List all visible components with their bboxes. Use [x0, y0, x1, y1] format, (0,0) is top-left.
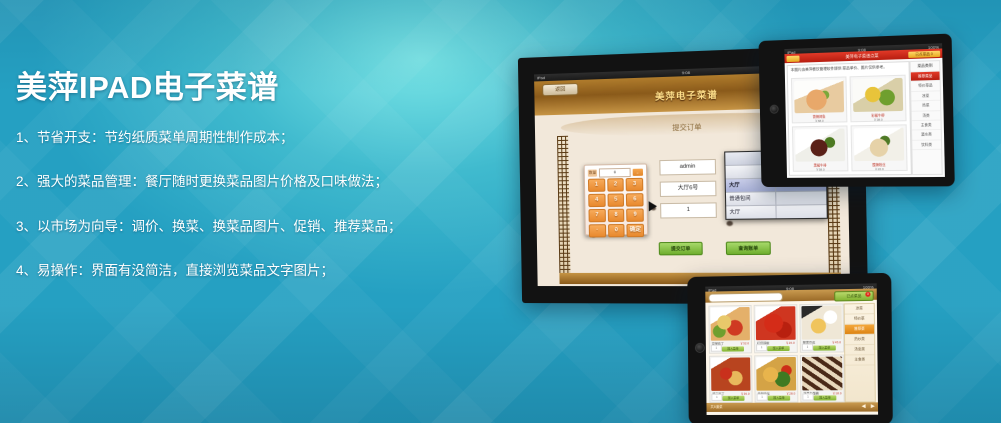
dish-photo — [794, 80, 844, 114]
numeric-keypad[interactable]: 数量 6 ← 1 2 3 4 5 6 7 8 9 · — [584, 163, 649, 235]
dish-qty[interactable]: 1 — [756, 344, 767, 351]
dish-qty[interactable]: 1 — [711, 344, 722, 351]
cart-button[interactable]: 已点菜品3 — [834, 290, 874, 301]
next-page-icon[interactable]: ▶ — [871, 403, 875, 410]
dish-card[interactable]: 宫保鸡丁 ￥32.0 1 加入菜单 — [708, 305, 752, 353]
dish-card[interactable]: 香辣烤鱼 ￥68.0 — [791, 76, 847, 123]
br-footer-bar: 共6道菜 ◀ ▶ — [706, 402, 878, 412]
dish-price: ￥45.0 — [832, 340, 841, 344]
dish-photo — [852, 78, 903, 112]
dish-price: ￥38.0 — [851, 117, 906, 122]
br-sidebar-item-cold[interactable]: 凉菜 — [845, 304, 874, 315]
backspace-icon[interactable]: ← — [633, 168, 643, 175]
add-to-order-button[interactable]: 加入菜单 — [722, 396, 744, 401]
keypad-display-value[interactable]: 6 — [599, 167, 631, 177]
add-to-order-button[interactable]: 加入菜单 — [768, 396, 790, 401]
tr-sidebar-item-soup[interactable]: 汤类 — [912, 111, 941, 121]
keypad-display-label: 数量 — [588, 169, 597, 176]
keypad-key-enter[interactable]: 确定 — [627, 224, 644, 237]
feature-item-1: 1、节省开支：节约纸质菜单周期性制作成本； — [16, 131, 486, 145]
dish-price: ￥18.0 — [832, 391, 841, 395]
br-category-sidebar: 凉菜 特价菜 推荐菜 热炒类 汤羹类 主食类 — [844, 303, 876, 403]
dish-card[interactable]: 红烧辣椒 ￥26.0 1 加入菜单 — [754, 304, 798, 353]
dish-qty[interactable]: 1 — [802, 393, 813, 400]
keypad-key-8[interactable]: 8 — [607, 209, 624, 222]
br-sidebar-item-special[interactable]: 特价菜 — [845, 314, 874, 325]
feature-item-2: 2、强大的菜品管理：餐厅随时更换菜品图片价格及口味做法； — [16, 175, 486, 189]
dish-photo — [853, 127, 904, 161]
add-to-order-button[interactable]: 加入菜单 — [722, 346, 744, 351]
add-to-order-button[interactable]: 加入菜单 — [814, 395, 837, 400]
table-row[interactable]: 大厅 — [726, 205, 827, 219]
dish-photo — [801, 305, 841, 339]
br-sidebar-item-stirfry[interactable]: 热炒类 — [845, 335, 874, 346]
tr-content-panel: 本图片由美萍餐饮管理软件提供 菜品单价、图片仅供参考。 香辣烤鱼 ￥68.0 彩… — [787, 61, 912, 176]
count-field[interactable]: 1 — [660, 202, 717, 218]
br-pager: ◀ ▶ — [862, 403, 875, 410]
keypad-grid: 1 2 3 4 5 6 7 8 9 · 0 确定 — [588, 178, 644, 238]
dish-card[interactable]: 酸辣粉丝 ￥22.0 — [850, 124, 908, 171]
br-sidebar-item-soup[interactable]: 汤羹类 — [845, 345, 874, 356]
promo-banner: 美萍IPAD电子菜谱 1、节省开支：节约纸质菜单周期性制作成本； 2、强大的菜品… — [0, 0, 1001, 423]
tr-category-sidebar: 菜品类别 推荐菜品 特价菜品 凉菜 热菜 汤类 主食类 酒水类 饮料类 — [910, 60, 943, 175]
dish-price: ￥36.0 — [741, 391, 750, 395]
dish-card[interactable]: 蟹黄豆腐 ￥45.0 1 加入菜单 — [799, 303, 844, 352]
dish-photo — [802, 356, 842, 390]
dish-photo — [756, 356, 796, 390]
home-button[interactable] — [695, 343, 705, 353]
table-cell-area: 大厅 — [726, 206, 776, 219]
dish-price: ￥22.0 — [852, 167, 907, 172]
tr-sidebar-item-alcohol[interactable]: 酒水类 — [912, 130, 941, 140]
keypad-key-dot[interactable]: · — [589, 224, 606, 237]
dish-qty[interactable]: 1 — [711, 394, 722, 401]
tr-dish-grid: 香辣烤鱼 ￥68.0 彩椒牛柳 ￥38.0 黑椒牛排 ￥58.0 — [791, 75, 908, 172]
keypad-display-row: 数量 6 ← — [588, 168, 643, 177]
br-sidebar-item-recommended[interactable]: 推荐菜 — [845, 324, 874, 335]
dish-price: ￥32.0 — [740, 341, 749, 345]
home-button[interactable] — [770, 105, 779, 114]
main-action-buttons: 提交订单 查询账单 — [659, 241, 771, 255]
tr-disclaimer-note: 本图片由美萍餐饮管理软件提供 菜品单价、图片仅供参考。 — [791, 64, 906, 73]
br-dish-count: 共6道菜 — [710, 404, 722, 411]
br-dish-grid: 宫保鸡丁 ￥32.0 1 加入菜单 红烧辣椒 ￥26.0 1 加入菜单 — [708, 303, 844, 403]
tr-sidebar-item-drinks[interactable]: 饮料类 — [912, 140, 941, 150]
query-bill-button[interactable]: 查询账单 — [726, 241, 771, 255]
top-right-tablet-device: iPad 9:08 100% 美萍电子菜谱点菜 已点菜品 0 本图片由美萍餐饮管… — [758, 33, 954, 187]
cart-badge: 3 — [865, 291, 870, 296]
dish-card[interactable]: 彩椒牛柳 ￥38.0 — [849, 75, 907, 123]
tr-cart-button[interactable]: 已点菜品 0 — [908, 50, 940, 57]
table-field[interactable]: 大厅6号 — [660, 181, 717, 197]
user-field[interactable]: admin — [659, 159, 716, 176]
dish-photo — [756, 306, 796, 340]
top-right-tablet-screen[interactable]: iPad 9:08 100% 美萍电子菜谱点菜 已点菜品 0 本图片由美萍餐饮管… — [784, 43, 945, 178]
br-app-header: 已点菜品3 — [705, 288, 877, 302]
dish-card[interactable]: 巧克力蛋糕 ￥18.0 1 加入菜单 — [800, 354, 845, 403]
food-garnish — [727, 221, 733, 226]
tr-sidebar-item-staple[interactable]: 主食类 — [912, 121, 941, 131]
dish-card[interactable]: 辣子鸡丁 ￥36.0 1 加入菜单 — [709, 355, 753, 403]
add-to-order-button[interactable]: 加入菜单 — [813, 345, 836, 350]
keypad-key-2[interactable]: 2 — [607, 178, 624, 191]
keypad-key-0[interactable]: 0 — [608, 224, 625, 237]
dish-card[interactable]: 青椒肉丝 ￥28.0 1 加入菜单 — [754, 354, 798, 402]
table-cell-area: 普通包间 — [726, 192, 776, 205]
keypad-key-6[interactable]: 6 — [626, 193, 643, 207]
ornament-border-left — [557, 136, 570, 274]
dish-qty[interactable]: 1 — [802, 343, 813, 350]
menu-browse-app: iPad 9:08 100% 美萍电子菜谱点菜 已点菜品 0 本图片由美萍餐饮管… — [784, 43, 945, 178]
bottom-right-tablet-screen[interactable]: iPad 9:08 100% 已点菜品3 宫保鸡丁 ￥32.0 1 加入菜单 — [705, 283, 878, 415]
tr-sidebar-item-hot[interactable]: 热菜 — [911, 101, 940, 111]
search-input[interactable] — [708, 292, 783, 302]
keypad-key-9[interactable]: 9 — [626, 208, 643, 221]
bottom-right-tablet-device: iPad 9:08 100% 已点菜品3 宫保鸡丁 ￥32.0 1 加入菜单 — [687, 273, 893, 423]
dish-card[interactable]: 黑椒牛排 ￥58.0 — [792, 125, 848, 171]
pointer-arrow-icon — [649, 201, 657, 211]
feature-item-3: 3、以市场为向导：调价、换菜、换菜品图片、促销、推荐菜品； — [16, 220, 486, 234]
dish-price: ￥26.0 — [786, 341, 795, 345]
dish-photo — [795, 129, 845, 162]
keypad-key-3[interactable]: 3 — [626, 178, 643, 192]
feature-item-4: 4、易操作：界面有没简洁，直接浏览菜品文字图片； — [16, 264, 486, 278]
feature-list: 1、节省开支：节约纸质菜单周期性制作成本； 2、强大的菜品管理：餐厅随时更换菜品… — [16, 131, 486, 278]
page-title: 美萍IPAD电子菜谱 — [16, 72, 486, 105]
dish-qty[interactable]: 1 — [757, 394, 768, 401]
keypad-key-1[interactable]: 1 — [588, 178, 605, 191]
table-cell-room — [776, 191, 826, 204]
dish-price: ￥58.0 — [794, 167, 847, 171]
order-fields: admin 大厅6号 1 — [659, 159, 717, 225]
br-sidebar-item-staple[interactable]: 主食类 — [845, 355, 874, 365]
table-cell-room — [776, 205, 826, 218]
prev-page-icon[interactable]: ◀ — [862, 403, 866, 410]
keypad-key-7[interactable]: 7 — [588, 209, 605, 222]
dish-price: ￥68.0 — [793, 118, 846, 123]
submit-order-button[interactable]: 提交订单 — [659, 242, 703, 256]
keypad-key-4[interactable]: 4 — [588, 194, 605, 207]
keypad-key-5[interactable]: 5 — [607, 193, 624, 206]
add-to-order-button[interactable]: 加入菜单 — [767, 345, 789, 350]
dish-photo — [711, 357, 751, 390]
dish-photo — [710, 307, 750, 341]
dish-price: ￥28.0 — [786, 391, 795, 395]
table-row[interactable]: 普通包间 — [726, 191, 827, 206]
dish-gallery-app: iPad 9:08 100% 已点菜品3 宫保鸡丁 ￥32.0 1 加入菜单 — [705, 283, 878, 415]
marketing-copy: 美萍IPAD电子菜谱 1、节省开支：节约纸质菜单周期性制作成本； 2、强大的菜品… — [16, 72, 486, 309]
